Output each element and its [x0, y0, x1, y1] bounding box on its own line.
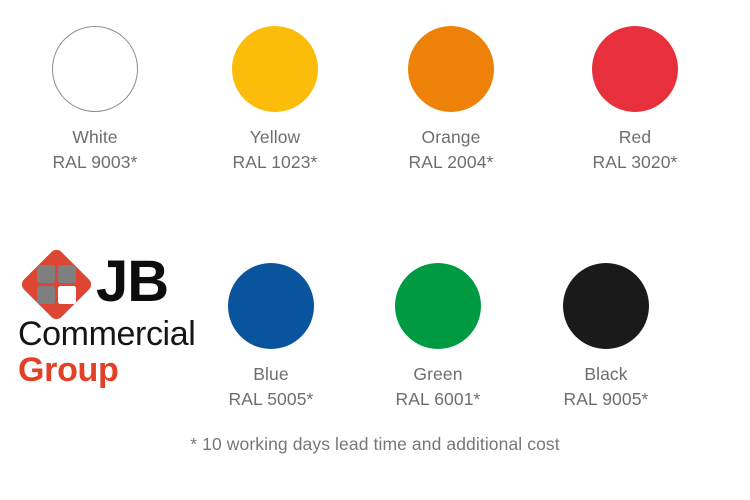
swatch-disc-green[interactable] — [395, 263, 481, 349]
swatch-name-white: White — [72, 127, 117, 147]
tile-top-right — [58, 265, 76, 283]
swatch-ral-red: RAL 3020* — [550, 150, 720, 175]
swatch-name-blue: Blue — [253, 364, 288, 384]
swatch-red[interactable]: Red RAL 3020* — [550, 26, 720, 175]
swatch-yellow[interactable]: Yellow RAL 1023* — [190, 26, 360, 175]
swatch-ral-white: RAL 9003* — [10, 150, 180, 175]
swatch-caption-white: White RAL 9003* — [10, 125, 180, 175]
swatch-blue[interactable]: Blue RAL 5005* — [186, 263, 356, 412]
tile-bottom-left — [37, 286, 55, 304]
swatch-name-green: Green — [413, 364, 462, 384]
jb-diamond-mark-icon — [18, 246, 94, 322]
swatch-name-orange: Orange — [422, 127, 481, 147]
tile-bottom-right — [58, 286, 76, 304]
diamond-tile-grid — [37, 265, 76, 304]
swatch-disc-blue[interactable] — [228, 263, 314, 349]
swatch-name-yellow: Yellow — [250, 127, 301, 147]
swatch-disc-white[interactable] — [52, 26, 138, 112]
swatch-disc-black[interactable] — [563, 263, 649, 349]
swatch-ral-blue: RAL 5005* — [186, 387, 356, 412]
swatch-ral-yellow: RAL 1023* — [190, 150, 360, 175]
swatch-caption-green: Green RAL 6001* — [353, 362, 523, 412]
swatch-name-red: Red — [619, 127, 651, 147]
swatch-caption-yellow: Yellow RAL 1023* — [190, 125, 360, 175]
swatch-orange[interactable]: Orange RAL 2004* — [366, 26, 536, 175]
swatch-name-black: Black — [584, 364, 627, 384]
tile-top-left — [37, 265, 55, 283]
swatch-disc-orange[interactable] — [408, 26, 494, 112]
swatch-ral-orange: RAL 2004* — [366, 150, 536, 175]
swatch-ral-green: RAL 6001* — [353, 387, 523, 412]
swatch-disc-yellow[interactable] — [232, 26, 318, 112]
swatch-disc-red[interactable] — [592, 26, 678, 112]
swatch-ral-black: RAL 9005* — [521, 387, 691, 412]
swatch-caption-red: Red RAL 3020* — [550, 125, 720, 175]
swatch-caption-black: Black RAL 9005* — [521, 362, 691, 412]
colour-options-sheet: White RAL 9003* Yellow RAL 1023* Orange … — [0, 0, 750, 500]
swatch-caption-blue: Blue RAL 5005* — [186, 362, 356, 412]
swatch-green[interactable]: Green RAL 6001* — [353, 263, 523, 412]
swatch-white[interactable]: White RAL 9003* — [10, 26, 180, 175]
lead-time-footnote: * 10 working days lead time and addition… — [0, 434, 750, 455]
logo-initials: JB — [96, 253, 168, 311]
swatch-black[interactable]: Black RAL 9005* — [521, 263, 691, 412]
swatch-caption-orange: Orange RAL 2004* — [366, 125, 536, 175]
